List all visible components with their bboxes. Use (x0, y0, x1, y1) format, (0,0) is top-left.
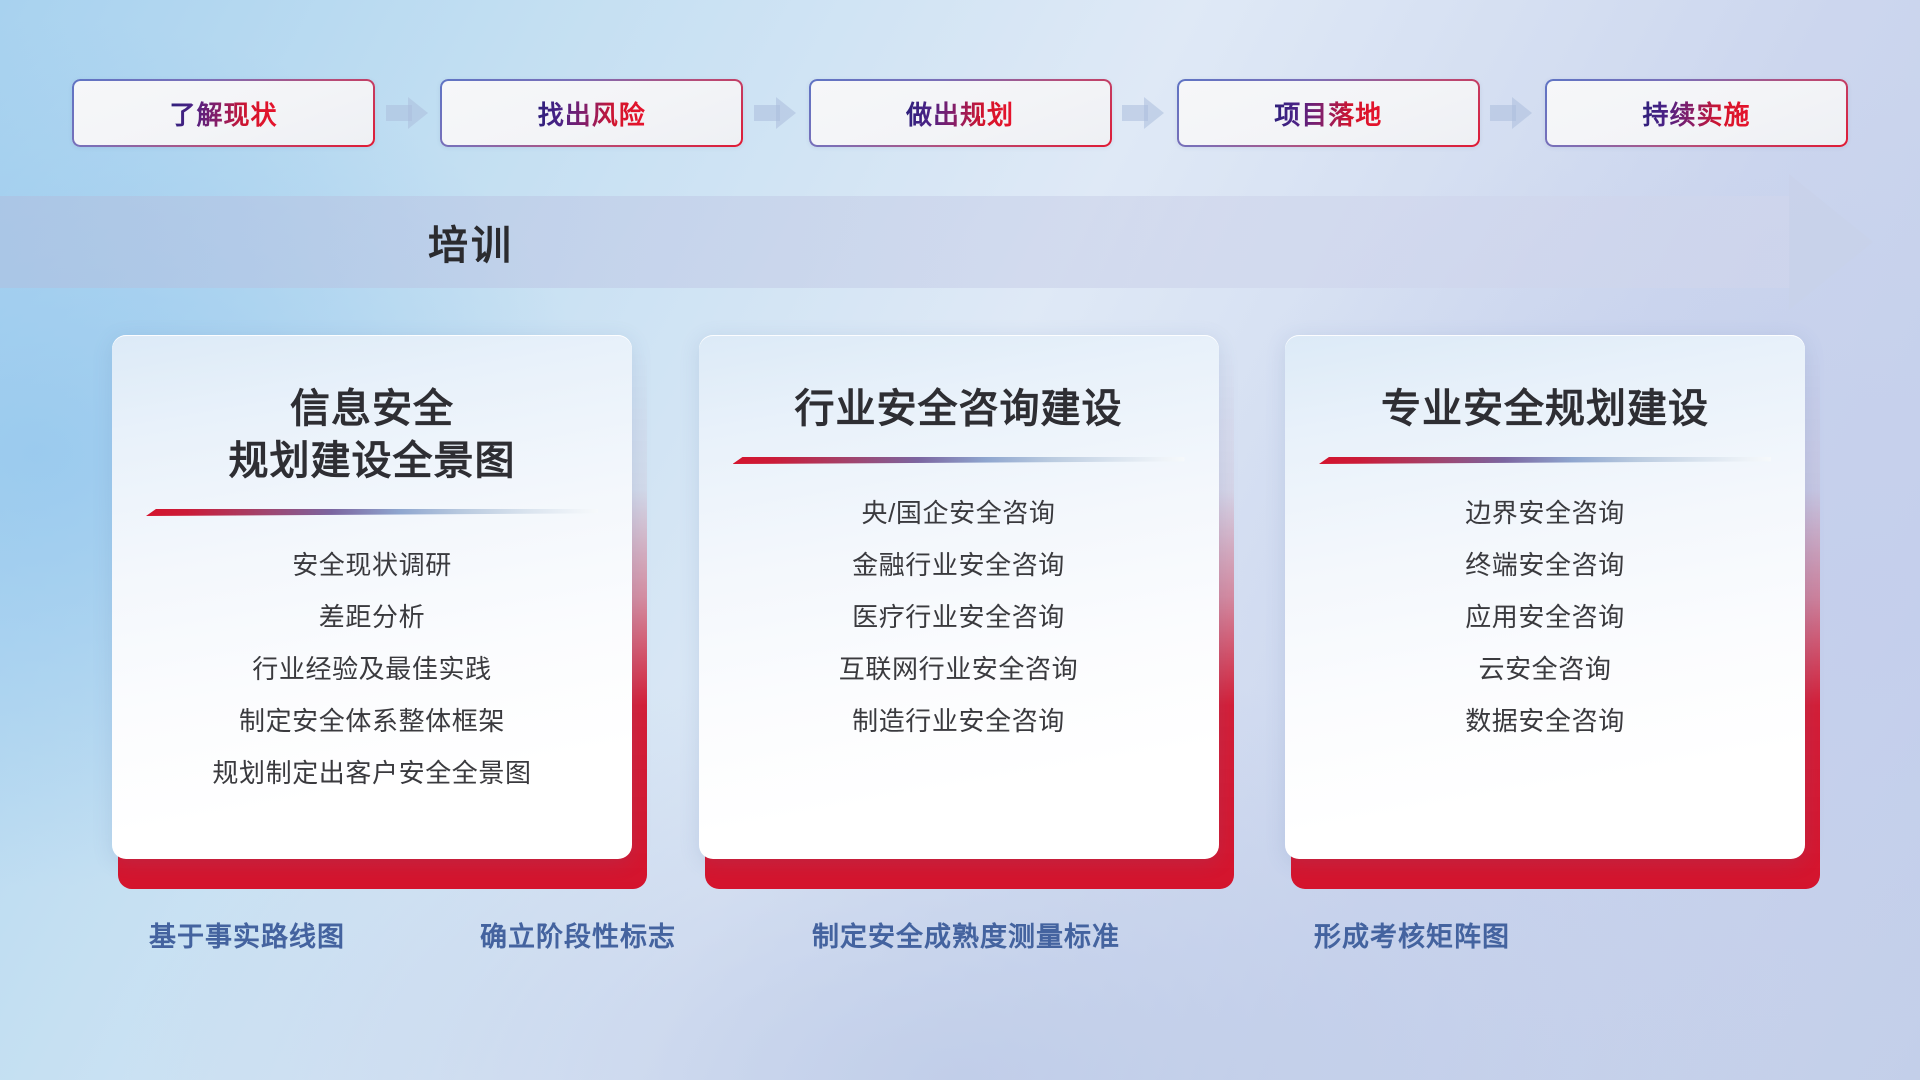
cards-row: 信息安全 规划建设全景图 安全现状调研 差距分析 行业经验及最佳实践 制定安全体… (112, 335, 1812, 875)
banner-title: 培训 (0, 196, 1872, 288)
list-item: 安全现状调研 (292, 544, 452, 586)
step-box-1[interactable]: 了解现状 (72, 79, 375, 147)
bottom-label-4: 形成考核矩阵图 (1314, 915, 1510, 954)
step-label-1: 了解现状 (169, 95, 277, 132)
card-3[interactable]: 专业安全规划建设 边界安全咨询 终端安全咨询 应用安全咨询 云安全咨询 数据安全… (1285, 335, 1812, 875)
slide-canvas: 了解现状 找出风险 做出规划 项目落地 持续实施 培训 (0, 0, 1920, 1080)
card-2-title: 行业安全咨询建设 (795, 383, 1123, 435)
list-item: 应用安全咨询 (1465, 596, 1625, 638)
card-3-title: 专业安全规划建设 (1381, 383, 1709, 435)
card-2[interactable]: 行业安全咨询建设 央/国企安全咨询 金融行业安全咨询 医疗行业安全咨询 互联网行… (699, 335, 1226, 875)
card-2-divider (733, 457, 1185, 464)
step-arrow-icon-1 (386, 96, 430, 130)
list-item: 行业经验及最佳实践 (252, 648, 491, 690)
list-item: 差距分析 (319, 596, 425, 638)
list-item: 数据安全咨询 (1465, 700, 1625, 742)
bottom-label-1: 基于事实路线图 (149, 915, 345, 954)
step-label-5: 持续实施 (1642, 95, 1750, 132)
step-label-3: 做出规划 (906, 95, 1014, 132)
step-arrow-icon-3 (1122, 96, 1166, 130)
card-1[interactable]: 信息安全 规划建设全景图 安全现状调研 差距分析 行业经验及最佳实践 制定安全体… (112, 335, 639, 875)
bottom-label-2: 确立阶段性标志 (480, 915, 676, 954)
list-item: 互联网行业安全咨询 (839, 648, 1078, 690)
card-3-list: 边界安全咨询 终端安全咨询 应用安全咨询 云安全咨询 数据安全咨询 (1465, 492, 1625, 743)
training-banner-arrow: 培训 (0, 196, 1872, 288)
card-1-list: 安全现状调研 差距分析 行业经验及最佳实践 制定安全体系整体框架 规划制定出客户… (212, 544, 531, 795)
card-3-divider (1319, 457, 1771, 464)
list-item: 制定安全体系整体框架 (239, 700, 505, 742)
list-item: 终端安全咨询 (1465, 544, 1625, 586)
list-item: 边界安全咨询 (1465, 492, 1625, 534)
list-item: 医疗行业安全咨询 (852, 596, 1065, 638)
list-item: 制造行业安全咨询 (852, 700, 1065, 742)
step-label-4: 项目落地 (1274, 95, 1382, 132)
bottom-outcome-labels: 基于事实路线图 确立阶段性标志 制定安全成熟度测量标准 形成考核矩阵图 (0, 915, 1920, 963)
process-step-bar: 了解现状 找出风险 做出规划 项目落地 持续实施 (72, 78, 1848, 148)
list-item: 金融行业安全咨询 (852, 544, 1065, 586)
card-2-list: 央/国企安全咨询 金融行业安全咨询 医疗行业安全咨询 互联网行业安全咨询 制造行… (839, 492, 1078, 743)
step-box-5[interactable]: 持续实施 (1545, 79, 1848, 147)
bottom-label-3: 制定安全成熟度测量标准 (812, 915, 1120, 954)
step-arrow-icon-4 (1490, 96, 1534, 130)
list-item: 云安全咨询 (1478, 648, 1611, 690)
step-label-2: 找出风险 (538, 95, 646, 132)
step-box-3[interactable]: 做出规划 (809, 79, 1112, 147)
step-arrow-icon-2 (754, 96, 798, 130)
card-1-divider (146, 509, 598, 516)
step-box-2[interactable]: 找出风险 (440, 79, 743, 147)
list-item: 央/国企安全咨询 (861, 492, 1055, 534)
card-1-title: 信息安全 规划建设全景图 (229, 383, 516, 487)
list-item: 规划制定出客户安全全景图 (212, 752, 531, 794)
step-box-4[interactable]: 项目落地 (1177, 79, 1480, 147)
